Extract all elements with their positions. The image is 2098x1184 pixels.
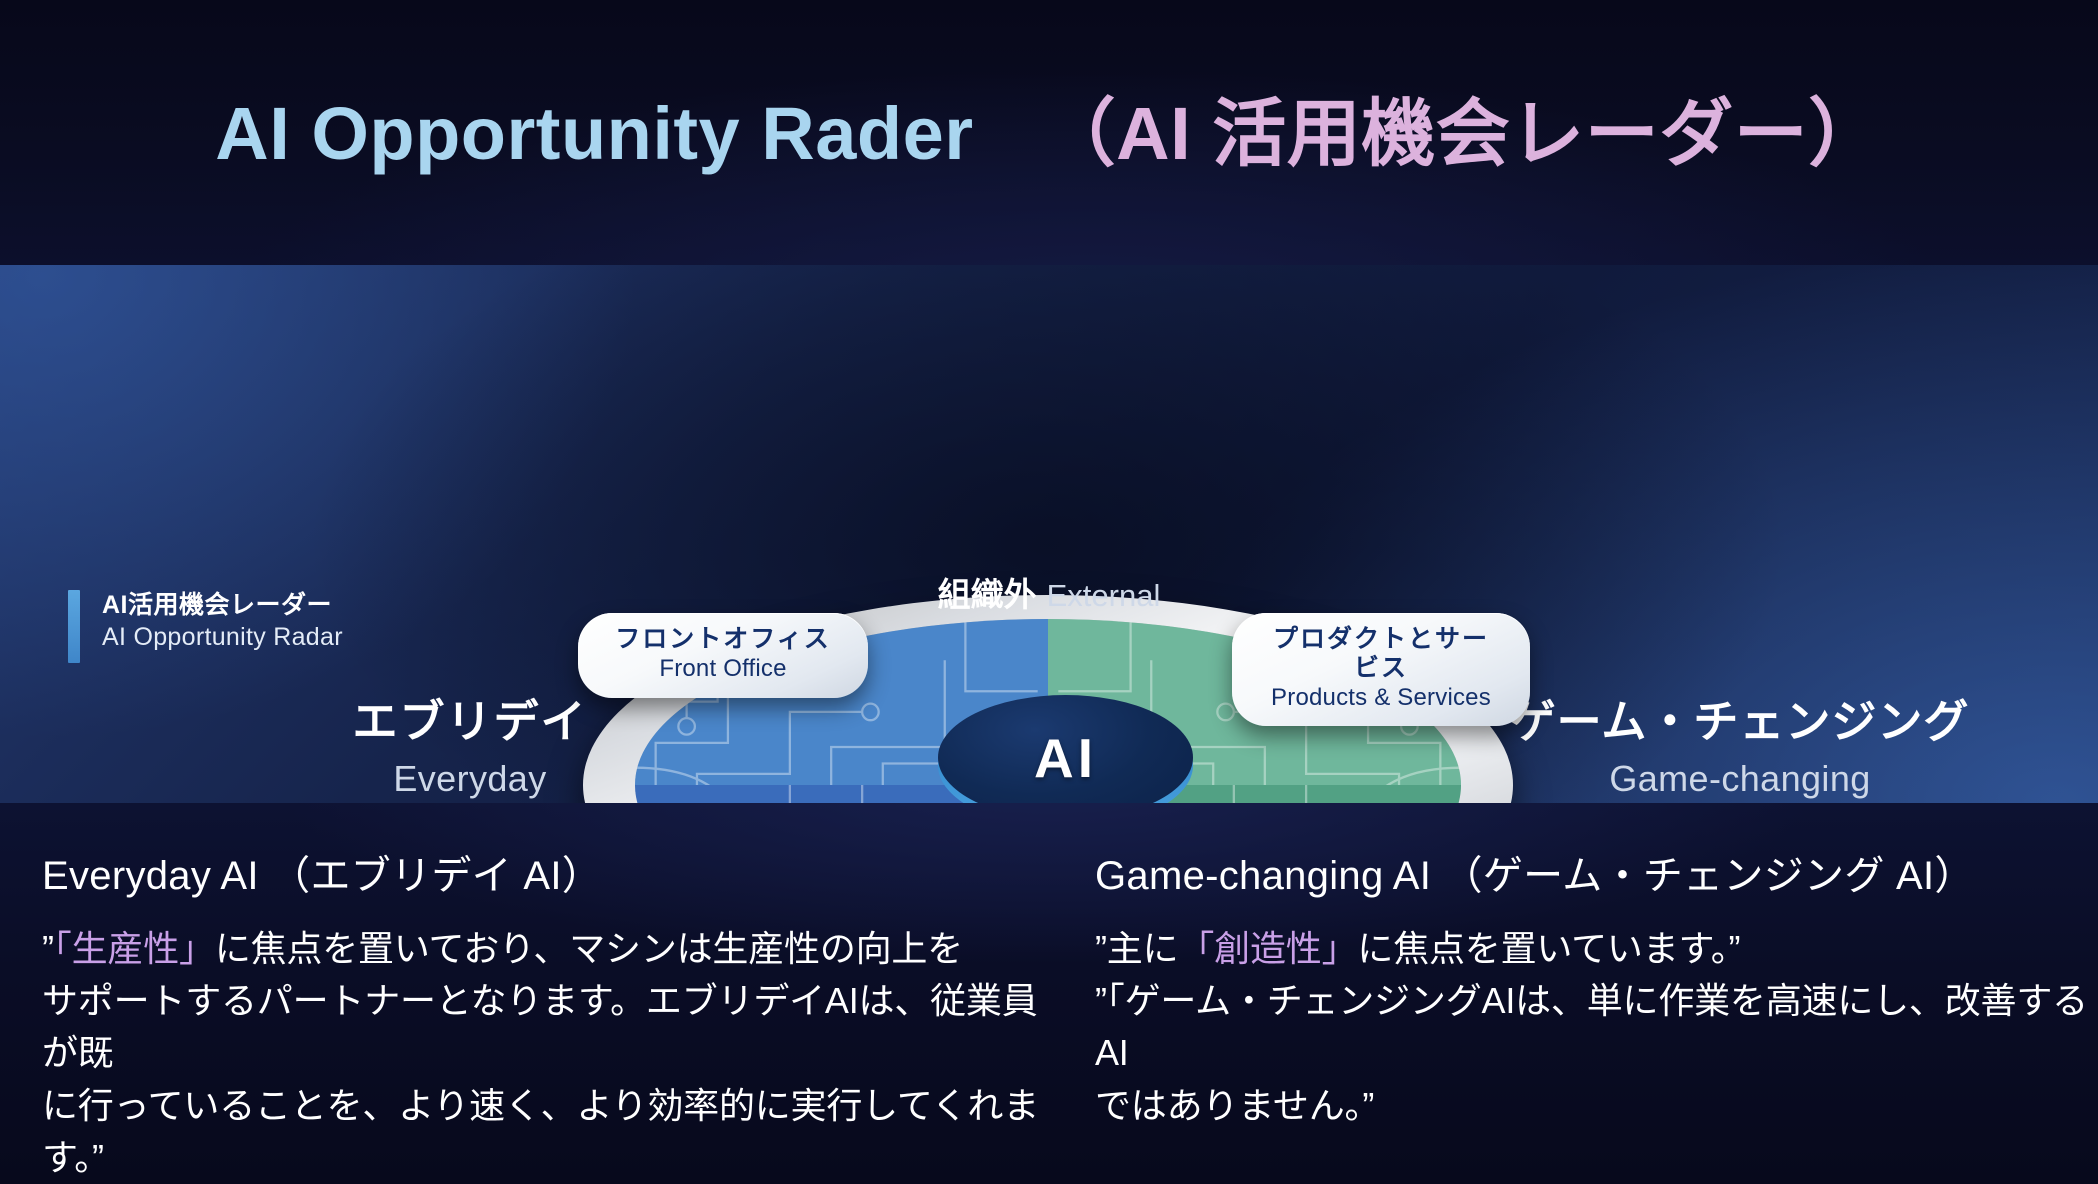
everyday-body: ”「生産性」に焦点を置いており、マシンは生産性の向上を サポートするパートナーと…: [42, 923, 1052, 1184]
axis-label-game-changing: ゲーム・チェンジング Game-changing: [1500, 685, 1980, 800]
axis-label-external: 組織外External: [0, 568, 2098, 616]
title-japanese: （AI 活用機会レーダー）: [1042, 92, 1883, 175]
axis-game-changing-english: Game-changing: [1500, 758, 1980, 800]
column-everyday-ai: Everyday AI （エブリデイ AI） ”「生産性」に焦点を置いており、マ…: [42, 843, 1052, 1184]
game-changing-heading: Game-changing AI （ゲーム・チェンジング AI）: [1095, 843, 2095, 901]
game-changing-quote-open: ”主に: [1095, 928, 1178, 969]
axis-everyday-english: Everyday: [300, 758, 640, 800]
axis-label-everyday: エブリデイ Everyday: [300, 685, 640, 800]
axis-external-japanese: 組織外: [938, 576, 1037, 613]
everyday-body-line1: に焦点を置いており、マシンは生産性の向上を: [215, 928, 963, 969]
column-game-changing-ai: Game-changing AI （ゲーム・チェンジング AI） ”主に「創造性…: [1095, 843, 2095, 1132]
diagram-band: AI活用機会レーダー AI Opportunity Radar 組織外Exter…: [0, 265, 2098, 803]
everyday-quote-open: ”: [42, 928, 54, 969]
lower-section: Everyday AI （エブリデイ AI） ”「生産性」に焦点を置いており、マ…: [0, 803, 2098, 1184]
title-bar: AI Opportunity Rader （AI 活用機会レーダー）: [0, 0, 2098, 265]
pill-products-services[interactable]: プロダクトとサービス Products & Services: [1232, 613, 1530, 726]
game-changing-highlight: 「創造性」: [1178, 928, 1357, 969]
pill-front-office-english: Front Office: [608, 655, 838, 684]
game-changing-body-line3: ではありません。”: [1095, 1085, 1374, 1126]
title-english: AI Opportunity Rader: [215, 92, 973, 175]
axis-everyday-japanese: エブリデイ: [300, 685, 640, 750]
pill-products-services-japanese: プロダクトとサービス: [1262, 625, 1500, 683]
ai-center-disk: AI: [938, 695, 1193, 803]
axis-game-changing-japanese: ゲーム・チェンジング: [1500, 685, 1980, 750]
everyday-highlight: 「生産性」: [54, 928, 215, 969]
pill-products-services-english: Products & Services: [1262, 684, 1500, 713]
game-changing-body: ”主に「創造性」に焦点を置いています。” ”「ゲーム・チェンジングAIは、単に作…: [1095, 923, 2095, 1132]
axis-external-english: External: [1047, 578, 1161, 613]
pill-front-office[interactable]: フロントオフィス Front Office: [578, 613, 868, 698]
game-changing-body-line2: ”「ゲーム・チェンジングAIは、単に作業を高速にし、改善するAI: [1095, 980, 2088, 1073]
game-changing-body-line1: に焦点を置いています。”: [1357, 928, 1740, 969]
pill-front-office-japanese: フロントオフィス: [608, 625, 838, 654]
ai-center-label: AI: [938, 695, 1193, 803]
everyday-body-line2: サポートするパートナーとなります。エブリデイAIは、従業員が既: [42, 980, 1038, 1073]
side-label-english: AI Opportunity Radar: [102, 622, 343, 653]
page-title: AI Opportunity Rader （AI 活用機会レーダー）: [0, 74, 2098, 181]
everyday-heading: Everyday AI （エブリデイ AI）: [42, 843, 1052, 901]
slide-root: AI Opportunity Rader （AI 活用機会レーダー） AI活用機…: [0, 0, 2098, 1184]
everyday-body-line3: に行っていることを、より速く、より効率的に実行してくれます。”: [42, 1085, 1039, 1178]
